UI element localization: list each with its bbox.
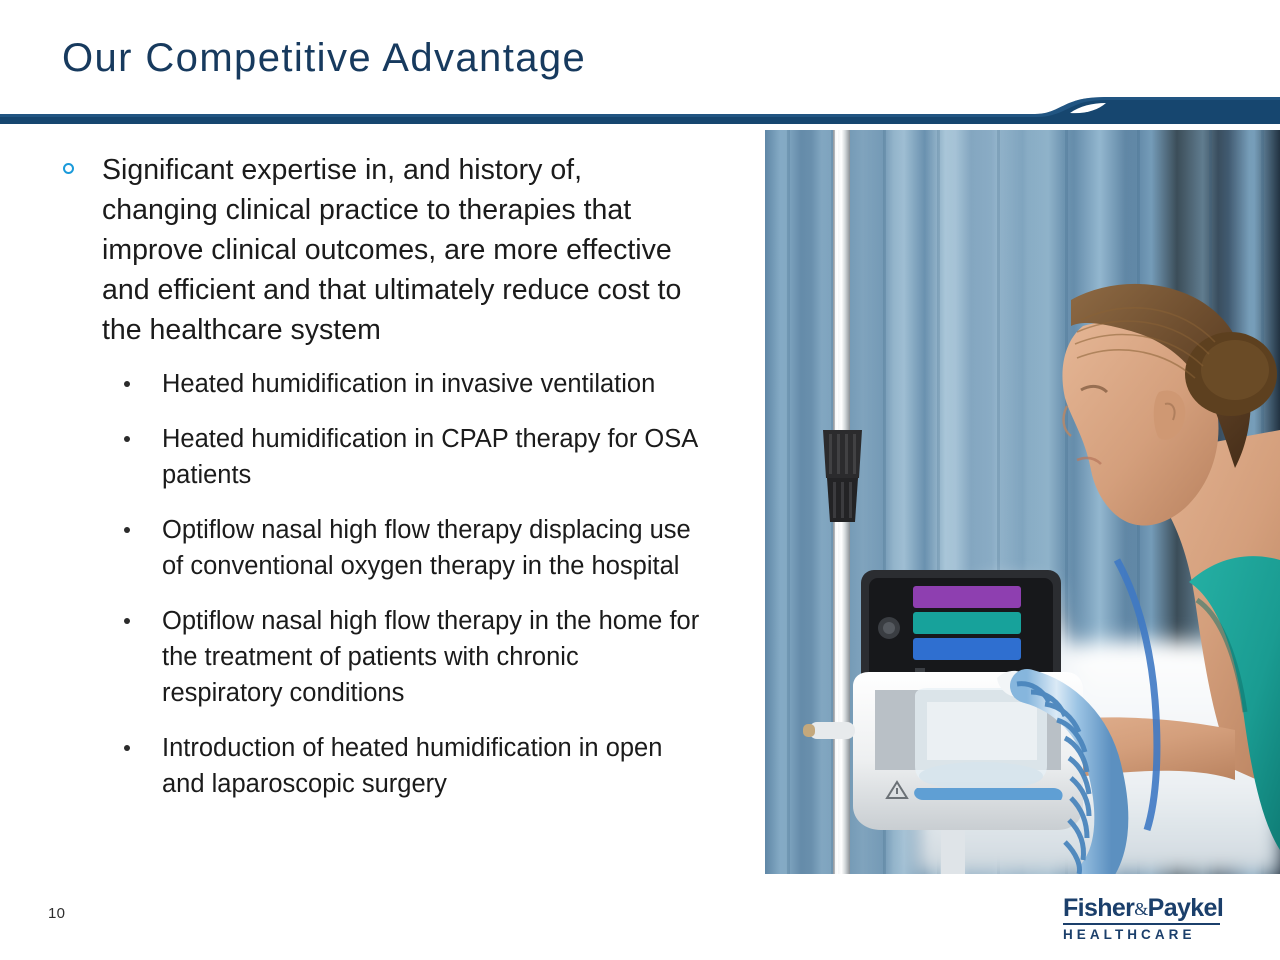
hero-photo-clinician-humidifier: Fisher&Paykel — [765, 130, 1280, 874]
list-item: Heated humidification in CPAP therapy fo… — [0, 421, 745, 493]
dot-bullet-icon — [124, 745, 130, 751]
list-item: Heated humidification in invasive ventil… — [0, 366, 745, 402]
sub-bullet-list: Heated humidification in invasive ventil… — [0, 366, 745, 802]
dot-bullet-icon — [124, 618, 130, 624]
list-item-text: Optiflow nasal high flow therapy in the … — [162, 607, 699, 707]
logo-wordmark: Fisher&Paykel — [1063, 896, 1223, 922]
company-logo: Fisher&Paykel HEALTHCARE — [1063, 896, 1223, 942]
logo-brand-second: Paykel — [1148, 894, 1224, 922]
list-item-text: Optiflow nasal high flow therapy displac… — [162, 516, 691, 580]
list-item: Introduction of heated humidification in… — [0, 730, 745, 802]
dot-bullet-icon — [124, 436, 130, 442]
list-item-text: Introduction of heated humidification in… — [162, 734, 662, 798]
list-item-text: Heated humidification in invasive ventil… — [162, 370, 655, 398]
list-item: Optiflow nasal high flow therapy displac… — [0, 512, 745, 584]
ring-bullet-icon — [63, 163, 74, 174]
page-number: 10 — [48, 905, 65, 922]
logo-divider-rule — [1063, 923, 1220, 925]
list-item-text: Heated humidification in CPAP therapy fo… — [162, 425, 697, 489]
page-title: Our Competitive Advantage — [62, 36, 586, 81]
list-item: Optiflow nasal high flow therapy in the … — [0, 603, 745, 711]
dot-bullet-icon — [124, 527, 130, 533]
dot-bullet-icon — [124, 381, 130, 387]
logo-ampersand: & — [1134, 899, 1147, 919]
slide-canvas: Our Competitive Advantage — [0, 0, 1280, 960]
slide-body: Significant expertise in, and history of… — [0, 150, 745, 940]
logo-brand-first: Fisher — [1063, 894, 1134, 922]
logo-division-label: HEALTHCARE — [1063, 927, 1223, 942]
main-bullet-text: Significant expertise in, and history of… — [102, 154, 681, 346]
main-bullet: Significant expertise in, and history of… — [0, 150, 745, 350]
